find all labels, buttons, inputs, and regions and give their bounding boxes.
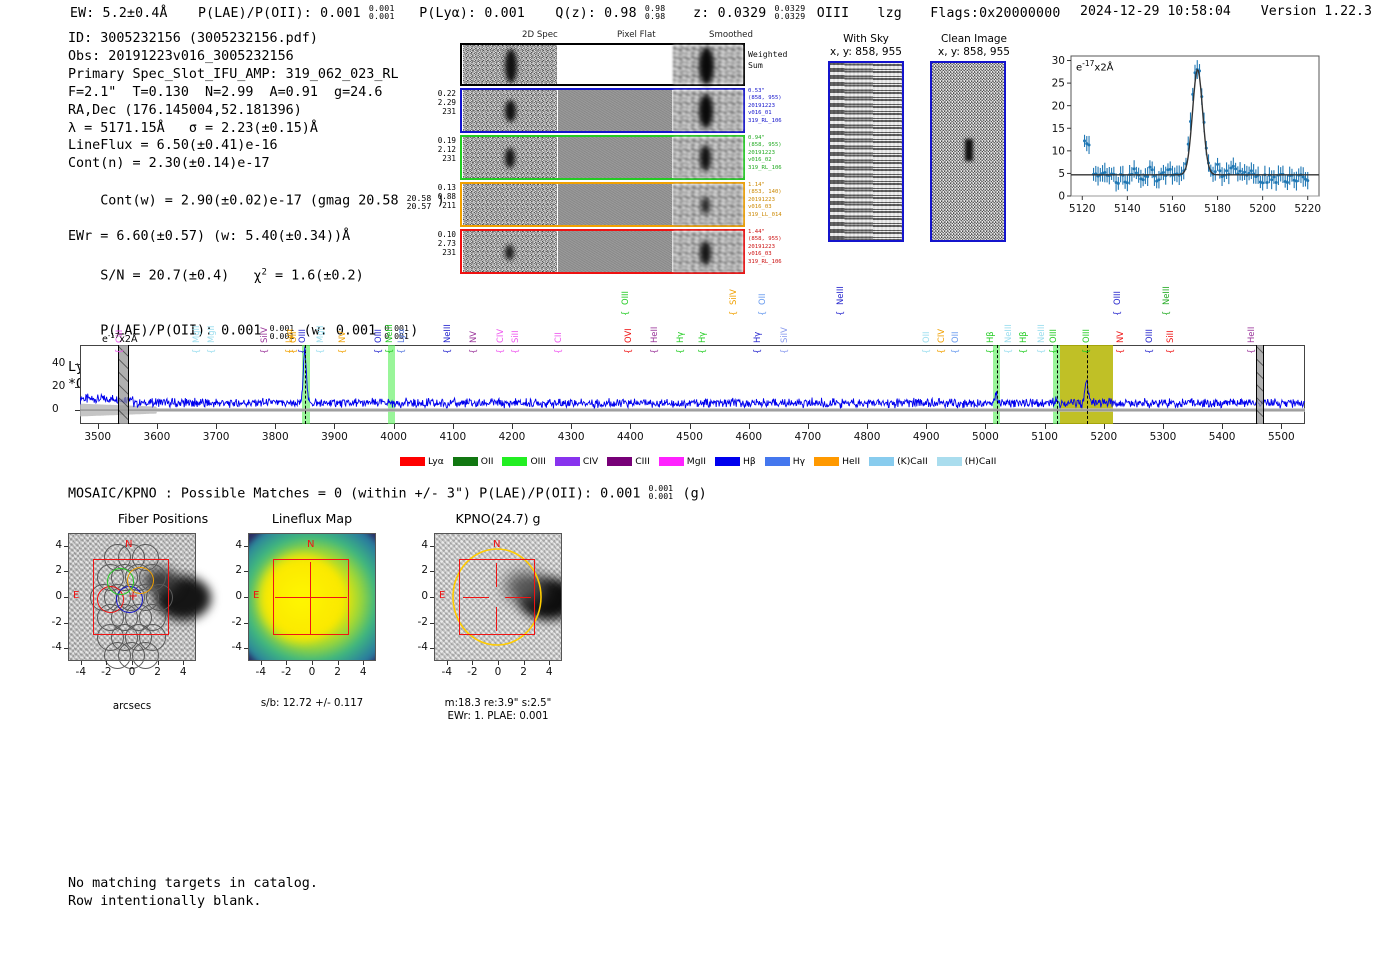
svg-text:20: 20	[1052, 100, 1065, 112]
header-z-label: z:	[693, 6, 709, 21]
spectrum-ytick: 40	[52, 357, 65, 369]
row-2-pixelflat-image	[558, 137, 672, 178]
kpno-ytick: -2	[408, 616, 428, 628]
emission-line-bracket: {	[1081, 349, 1091, 354]
row-3-stat-2: 0.88	[430, 192, 456, 201]
row-2-2dspec-image	[463, 137, 557, 178]
emission-line-label: OVI	[623, 328, 633, 343]
legend-swatch	[453, 457, 478, 466]
emission-line-bracket: {	[697, 349, 707, 354]
kpno-east-marker: E	[439, 590, 445, 601]
spectrum-xtick: 3800	[255, 431, 295, 443]
emission-line-bracket: {	[1112, 311, 1122, 316]
emission-line-label: OIII	[1081, 329, 1091, 343]
spectrum-xtick: 4700	[788, 431, 828, 443]
emission-line-label: OIII	[1112, 291, 1122, 305]
emission-line-label: SiII	[1165, 330, 1175, 343]
row-4-meta-3: 20191223	[748, 244, 782, 251]
header-qz-lo: 0.98	[645, 11, 666, 21]
emission-line-label: OII	[757, 293, 767, 305]
kpno-panel-title: KPNO(24.7) g	[434, 511, 562, 526]
emission-line-label: HeII	[649, 327, 659, 343]
weighted-sum-label-l2: Sum	[748, 60, 763, 70]
legend-item: HeII	[814, 456, 860, 467]
spec2d-row-4	[460, 229, 745, 274]
info-cont-n: Cont(n) = 2.30(±0.14)e-17	[68, 155, 445, 173]
svg-text:10: 10	[1052, 145, 1065, 157]
spectrum-line-marker	[1057, 345, 1058, 424]
footer-note: No matching targets in catalog. Row inte…	[68, 875, 318, 911]
header-qz-value: 0.98	[604, 6, 637, 21]
fiber-east-marker: E	[73, 590, 79, 601]
svg-text:5: 5	[1058, 168, 1065, 180]
mosaic-plae-fraction: 0.0010.001	[648, 484, 674, 497]
emission-line-label: Lyα	[396, 329, 406, 343]
legend-swatch	[607, 457, 632, 466]
emission-line-bracket: {	[1115, 349, 1125, 354]
spectrum-line-marker	[997, 345, 998, 424]
header-qz-label: Q(z):	[555, 6, 596, 21]
kpno-north-marker: N	[493, 539, 500, 550]
emission-line-bracket: {	[752, 349, 762, 354]
row-3-meta-2: (853, 140)	[748, 189, 782, 196]
weighted-sum-pixelflat-image	[558, 45, 672, 84]
emission-line-bracket: {	[315, 349, 325, 354]
fiber-north-marker: N	[125, 539, 132, 550]
footer-line-2: Row intentionally blank.	[68, 893, 318, 911]
spectrum-annotation: e-17x2Å	[102, 332, 137, 345]
info-cont-w: Cont(w) = 2.90(±0.02)e-17 (gmag 20.58 20…	[68, 173, 445, 228]
line-zoom-annotation: e-17x2Å	[1076, 59, 1114, 73]
emission-line-label: OII	[950, 331, 960, 343]
row-4-meta-5: 319_RL_106	[748, 259, 782, 266]
row-1-meta-3: 20191223	[748, 103, 782, 110]
emission-line-label: NeIII	[1003, 324, 1013, 343]
emission-line-label: OIII	[373, 329, 383, 343]
emission-line-bracket: {	[553, 349, 563, 354]
cutout-with-sky-label: With Sky	[818, 33, 914, 46]
legend-label: (K)CaII	[897, 456, 928, 467]
legend-swatch	[659, 457, 684, 466]
col-header-2dspec: 2D Spec	[522, 30, 558, 40]
spectrum-masked-region	[118, 345, 129, 424]
emission-line-label: NV	[337, 331, 347, 343]
spectrum-xtick: 4800	[847, 431, 887, 443]
header-ew: EW: 5.2±0.4Å	[70, 6, 168, 21]
header-plae-lo: 0.001	[369, 11, 395, 21]
emission-line-bracket: {	[620, 311, 630, 316]
spectrum-xtick: 5500	[1261, 431, 1301, 443]
kpno-ytick: -4	[408, 641, 428, 653]
emission-line-label: OIII	[1144, 329, 1154, 343]
fiber-ytick: -4	[42, 641, 62, 653]
spec2d-row-3	[460, 182, 745, 227]
emission-line-label: MgII	[206, 326, 216, 343]
spectrum-legend: LyαOIIOIIICIVCIIIMgIIHβHγHeII(K)CaII(H)C…	[400, 456, 996, 467]
mosaic-text-a: MOSAIC/KPNO : Possible Matches = 0 (with…	[68, 486, 648, 501]
spectrum-xtick: 5400	[1202, 431, 1242, 443]
emission-line-bracket: {	[495, 349, 505, 354]
fiber-positions-image[interactable]: N E +	[68, 533, 196, 661]
row-4-stat-2: 2.73	[430, 239, 456, 248]
lineflux-map-image[interactable]: N E	[248, 533, 376, 661]
legend-item: OIII	[502, 456, 545, 467]
kpno-caption-1: m:18.3 re:3.9" s:2.5"	[424, 697, 572, 710]
emission-line-bracket: {	[396, 349, 406, 354]
emission-line-label: Hγ	[675, 332, 685, 343]
cutout-clean-image	[930, 61, 1006, 242]
emission-line-bracket: {	[297, 349, 307, 354]
header-meta: 2024-12-29 10:58:04 Version 1.22.3	[1080, 4, 1372, 19]
header-flags: Flags:0x20000000	[930, 6, 1060, 21]
fiber-circle[interactable]	[132, 642, 159, 669]
col-header-pixelflat: Pixel Flat	[617, 30, 656, 40]
info-seeing-params: F=2.1" T=0.130 N=2.99 A=0.91 g=24.6	[68, 84, 445, 102]
row-4-smoothed-image	[673, 231, 743, 272]
emission-line-bracket: {	[623, 349, 633, 354]
legend-label: CIII	[635, 456, 650, 467]
header-class-flag: lzg	[878, 6, 902, 21]
emission-line-bracket: {	[950, 349, 960, 354]
svg-text:0: 0	[1058, 191, 1065, 203]
emission-line-bracket: {	[337, 349, 347, 354]
header-z-lo: 0.0329	[775, 11, 806, 21]
emission-line-label: SiIV	[779, 327, 789, 343]
svg-text:5180: 5180	[1204, 203, 1231, 215]
svg-text:30: 30	[1052, 55, 1065, 67]
cutout-clean-title: Clean Image x, y: 858, 955	[919, 33, 1029, 59]
spectrum-xtick: 4100	[433, 431, 473, 443]
spectrum-xtick: 4500	[670, 431, 710, 443]
spectrum-xtick: 3600	[137, 431, 177, 443]
spectrum-xtick: 3900	[314, 431, 354, 443]
fiber-ytick: 2	[42, 564, 62, 576]
header-plae-fraction: 0.001 0.001	[369, 4, 395, 17]
legend-swatch	[502, 457, 527, 466]
emission-line-bracket: {	[921, 349, 931, 354]
legend-swatch	[765, 457, 790, 466]
row-4-2dspec-image	[463, 231, 557, 272]
emission-line-label: HeII	[1246, 327, 1256, 343]
legend-item: OII	[453, 456, 494, 467]
emission-line-bracket: {	[985, 349, 995, 354]
cutout-with-sky-image	[828, 61, 904, 242]
emission-line-bracket: {	[284, 349, 294, 354]
legend-swatch	[555, 457, 580, 466]
spec2d-row-2	[460, 135, 745, 180]
info-radec: RA,Dec (176.145004,52.181396)	[68, 102, 445, 120]
emission-line-bracket: {	[757, 311, 767, 316]
kpno-ytick: 4	[408, 539, 428, 551]
full-spectrum-plot: e-17x2Å	[80, 345, 1305, 424]
row-4-pixelflat-image	[558, 231, 672, 272]
emission-line-label: CII	[553, 332, 563, 343]
legend-label: Hγ	[793, 456, 805, 467]
header-version: Version 1.22.3	[1261, 4, 1372, 19]
row-2-smoothed-image	[673, 137, 743, 178]
spectrum-ytick: 20	[52, 380, 65, 392]
header-line-id: OIII	[817, 6, 850, 21]
svg-text:15: 15	[1052, 123, 1065, 135]
emission-line-bracket: {	[442, 349, 452, 354]
emission-line-label: Hβ	[985, 331, 995, 343]
legend-swatch	[937, 457, 962, 466]
row-3-meta: 1.14" (853, 140) 20191223 v016_03 319_LL…	[748, 182, 782, 219]
header-summary-line: EW: 5.2±0.4Å P(LAE)/P(OII): 0.001 0.001 …	[70, 4, 1060, 21]
row-3-pixelflat-image	[558, 184, 672, 225]
row-1-meta-4: v016_01	[748, 110, 782, 117]
emission-line-bracket: {	[728, 311, 738, 316]
row-2-meta-2: (858, 955)	[748, 142, 782, 149]
mosaic-plae-lo: 0.001	[648, 491, 673, 501]
emission-line-bracket: {	[468, 349, 478, 354]
emission-line-bracket: {	[510, 349, 520, 354]
info-cont-w-text: Cont(w) = 2.90(±0.02)e-17 (gmag 20.58	[100, 194, 406, 209]
row-4-meta-2: (858, 955)	[748, 236, 782, 243]
emission-line-label: OII	[921, 331, 931, 343]
spectrum-trace-svg	[80, 345, 1305, 424]
spectrum-line-marker	[1087, 345, 1088, 424]
emission-line-label: SiII	[510, 330, 520, 343]
row-3-smoothed-image	[673, 184, 743, 225]
legend-label: (H)CaII	[965, 456, 997, 467]
emission-line-label: CIV	[936, 329, 946, 343]
emission-line-bracket: {	[936, 349, 946, 354]
row-2-meta-3: 20191223	[748, 150, 782, 157]
legend-label: OII	[481, 456, 494, 467]
fiber-panel-title: Fiber Positions	[68, 511, 258, 526]
weighted-sum-label-l1: Weighted	[748, 49, 787, 59]
row-3-meta-5: 319_LL_014	[748, 212, 782, 219]
legend-item: MgII	[659, 456, 706, 467]
header-z-value: 0.0329	[718, 6, 767, 21]
legend-label: HeII	[842, 456, 860, 467]
emission-line-label: NeIII	[835, 286, 845, 305]
spectrum-line-marker	[305, 345, 306, 424]
legend-item: Hγ	[765, 456, 805, 467]
row-3-meta-4: v016_03	[748, 204, 782, 211]
spectrum-masked-region	[1256, 345, 1263, 424]
spectrum-xtick: 5100	[1025, 431, 1065, 443]
emission-line-bracket: {	[779, 349, 789, 354]
row-1-smoothed-image	[673, 90, 743, 131]
emission-line-label: SiIV	[728, 289, 738, 305]
row-3-2dspec-image	[463, 184, 557, 225]
fiber-circle-highlighted[interactable]	[127, 567, 154, 594]
emission-line-label: OIII	[297, 329, 307, 343]
cutout-with-sky-coords: x, y: 858, 955	[818, 46, 914, 59]
row-3-stat-3: 211	[430, 201, 456, 210]
emission-line-bracket: {	[1003, 349, 1013, 354]
kpno-ytick: 2	[408, 564, 428, 576]
spectrum-xtick: 5200	[1084, 431, 1124, 443]
row-1-meta-5: 319_RL_106	[748, 118, 782, 125]
row-2-stat-1: 0.19	[430, 136, 456, 145]
row-2-stat-3: 231	[430, 154, 456, 163]
line-zoom-svg: 051015202530 512051405160518052005220	[1035, 50, 1325, 240]
emission-line-bracket: {	[1161, 311, 1171, 316]
legend-label: Lyα	[428, 456, 444, 467]
legend-label: CIV	[583, 456, 598, 467]
row-2-meta-5: 319_RL_106	[748, 165, 782, 172]
emission-line-label: NeIII	[442, 324, 452, 343]
row-1-stat-3: 231	[430, 107, 456, 116]
spec2d-row-1	[460, 88, 745, 133]
legend-label: MgII	[687, 456, 706, 467]
row-1-stat-2: 2.29	[430, 98, 456, 107]
weighted-sum-smoothed-image	[673, 45, 743, 84]
info-sn-chi2: S/N = 20.7(±0.4) χ2 = 1.6(±0.2)	[68, 246, 445, 303]
emission-line-label: NV	[468, 331, 478, 343]
spectrum-xtick: 4200	[492, 431, 532, 443]
emission-line-bracket: {	[384, 349, 394, 354]
emission-line-bracket: {	[649, 349, 659, 354]
row-3-meta-1: 1.14"	[748, 182, 782, 189]
lineflux-ytick: 4	[222, 539, 242, 551]
emission-line-bracket: {	[835, 311, 845, 316]
lineflux-caption: s/b: 12.72 +/- 0.117	[238, 697, 386, 710]
emission-line-label: OIII	[1048, 329, 1058, 343]
legend-item: Lyα	[400, 456, 444, 467]
row-4-stat-1: 0.10	[430, 230, 456, 239]
fiber-ytick: 0	[42, 590, 62, 602]
spec2d-panel-group: 2D Spec Pixel Flat Smoothed Weighted Sum…	[432, 30, 802, 255]
emission-line-bracket: {	[206, 349, 216, 354]
lineflux-ytick: -4	[222, 641, 242, 653]
info-chi2-symbol: χ2	[253, 269, 266, 284]
emission-line-label: NV	[1115, 331, 1125, 343]
spectrum-ytick: 0	[52, 403, 59, 415]
emission-line-label: SiIV	[259, 327, 269, 343]
emission-line-bracket: {	[1246, 349, 1256, 354]
kpno-caption-2: EWr: 1. PLAE: 0.001	[424, 710, 572, 723]
legend-label: Hβ	[743, 456, 756, 467]
row-4-stat-3: 231	[430, 248, 456, 257]
fiber-xtick: 4	[167, 666, 199, 678]
kpno-ytick: 0	[408, 590, 428, 602]
emission-line-bracket: {	[1018, 349, 1028, 354]
spectrum-xtick: 4400	[610, 431, 650, 443]
header-qz-fraction: 0.98 0.98	[645, 4, 671, 17]
row-2-meta: 0.94" (858, 955) 20191223 v016_02 319_RL…	[748, 135, 782, 172]
svg-text:5200: 5200	[1249, 203, 1276, 215]
svg-text:25: 25	[1052, 78, 1065, 90]
lineflux-north-marker: N	[307, 539, 314, 550]
lineflux-east-marker: E	[253, 590, 259, 601]
spectrum-xtick: 3700	[196, 431, 236, 443]
header-timestamp: 2024-12-29 10:58:04	[1080, 4, 1231, 19]
header-plya-value: 0.001	[484, 6, 525, 21]
spectrum-xtick: 3500	[78, 431, 118, 443]
kpno-xtick: 4	[533, 666, 565, 678]
mosaic-text-b: (g)	[674, 486, 706, 501]
lineflux-ytick: 0	[222, 590, 242, 602]
info-plae-close: )	[410, 324, 418, 339]
lineflux-ytick: -2	[222, 616, 242, 628]
footer-line-1: No matching targets in catalog.	[68, 875, 318, 893]
svg-text:5160: 5160	[1159, 203, 1186, 215]
cutout-clean-coords: x, y: 858, 955	[919, 46, 1029, 59]
lineflux-panel-title: Lineflux Map	[248, 511, 376, 526]
row-1-stat-1: 0.22	[430, 89, 456, 98]
cutout-with-sky-title: With Sky x, y: 858, 955	[818, 33, 914, 59]
header-z-fraction: 0.0329 0.0329	[775, 4, 809, 17]
fiber-xlabel: arcsecs	[68, 700, 196, 713]
emission-line-label: Hβ	[1018, 331, 1028, 343]
legend-item: CIV	[555, 456, 598, 467]
emission-line-bracket: {	[114, 349, 124, 354]
header-plae-label: P(LAE)/P(OII):	[198, 6, 312, 21]
emission-line-bracket: {	[1036, 349, 1046, 354]
spectrum-xtick: 4000	[374, 431, 414, 443]
row-4-meta: 1.44" (858, 955) 20191223 v016_03 319_RL…	[748, 229, 782, 266]
weighted-sum-2dspec-image	[463, 45, 557, 84]
spectrum-xtick: 5000	[965, 431, 1005, 443]
row-1-meta-2: (858, 955)	[748, 95, 782, 102]
legend-label: OIII	[530, 456, 545, 467]
info-ewr: EWr = 6.60(±0.57) (w: 5.40(±0.34))Å	[68, 228, 445, 246]
line-zoom-plot: 051015202530 512051405160518052005220 e-…	[1035, 50, 1325, 240]
spectrum-xtick: 4600	[729, 431, 769, 443]
info-id: ID: 3005232156 (3005232156.pdf)	[68, 30, 445, 48]
fiber-ytick: -2	[42, 616, 62, 628]
spectrum-xtick: 4300	[551, 431, 591, 443]
emission-line-label: Lyα	[284, 329, 294, 343]
clean-source-blob	[965, 139, 973, 161]
emission-line-bracket: {	[1048, 349, 1058, 354]
svg-text:5140: 5140	[1114, 203, 1141, 215]
header-plya-label: P(Lyα):	[419, 6, 476, 21]
emission-line-label: NeIII	[1036, 324, 1046, 343]
row-3-meta-3: 20191223	[748, 197, 782, 204]
emission-line-bracket: {	[373, 349, 383, 354]
lineflux-ytick: 2	[222, 564, 242, 576]
emission-line-label: MgII	[315, 326, 325, 343]
emission-line-bracket: {	[1144, 349, 1154, 354]
emission-line-bracket: {	[1165, 349, 1175, 354]
row-2-meta-4: v016_02	[748, 157, 782, 164]
emission-line-bracket: {	[675, 349, 685, 354]
row-4-meta-4: v016_03	[748, 251, 782, 258]
legend-item: Hβ	[715, 456, 756, 467]
fiber-ytick: 4	[42, 539, 62, 551]
svg-text:5120: 5120	[1069, 203, 1096, 215]
emission-line-bracket: {	[259, 349, 269, 354]
legend-item: (H)CaII	[937, 456, 997, 467]
info-lineflux: LineFlux = 6.50(±0.41)e-16	[68, 137, 445, 155]
row-2-meta-1: 0.94"	[748, 135, 782, 142]
emission-line-label: CIV	[495, 329, 505, 343]
info-obs: Obs: 20191223v016_3005232156	[68, 48, 445, 66]
svg-text:5220: 5220	[1294, 203, 1321, 215]
legend-swatch	[869, 457, 894, 466]
legend-swatch	[814, 457, 839, 466]
mosaic-match-line: MOSAIC/KPNO : Possible Matches = 0 (with…	[68, 484, 707, 501]
emission-line-label: Hγ	[697, 332, 707, 343]
cutout-clean-label: Clean Image	[919, 33, 1029, 46]
kpno-image[interactable]: N E	[434, 533, 562, 661]
info-primary-spec: Primary Spec_Slot_IFU_AMP: 319_062_023_R…	[68, 66, 445, 84]
emission-line-label: OIII	[620, 291, 630, 305]
info-wavelength-sigma: λ = 5171.15Å σ = 2.23(±0.15)Å	[68, 120, 445, 138]
info-gmag-lo: 20.57	[407, 198, 432, 216]
header-plae-value: 0.001	[320, 6, 361, 21]
legend-item: (K)CaII	[869, 456, 928, 467]
spectrum-xtick: 4900	[906, 431, 946, 443]
row-1-pixelflat-image	[558, 90, 672, 131]
col-header-smoothed: Smoothed	[709, 30, 753, 40]
lineflux-xtick: 4	[347, 666, 379, 678]
